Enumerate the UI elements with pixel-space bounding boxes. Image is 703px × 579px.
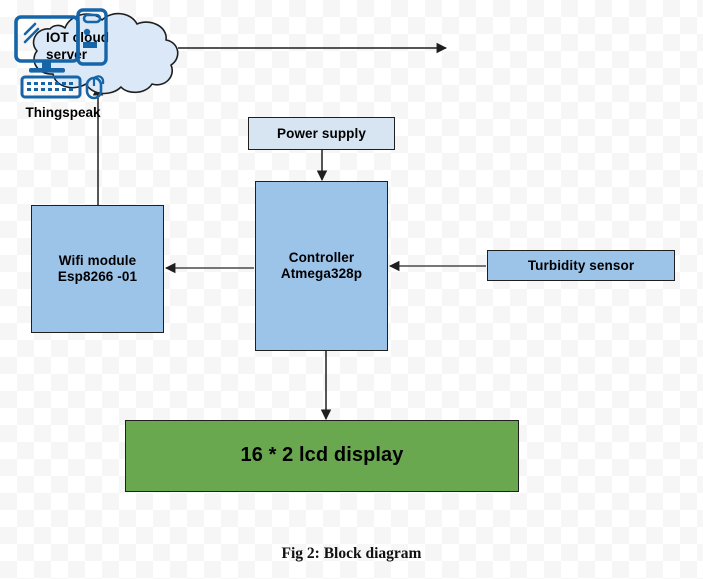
node-label-thingspeak: Thingspeak xyxy=(0,105,126,120)
node-label-turbidity-sensor: Turbidity sensor xyxy=(528,258,634,274)
figure-caption: Fig 2: Block diagram xyxy=(0,545,703,563)
node-thingspeak[interactable]: Thingspeak xyxy=(0,0,126,122)
node-lcd-display[interactable]: 16 * 2 lcd display xyxy=(125,420,519,492)
node-label-lcd-display: 16 * 2 lcd display xyxy=(241,444,404,468)
node-controller[interactable]: Controller Atmega328p xyxy=(255,181,388,351)
node-label-controller: Controller Atmega328p xyxy=(281,250,362,282)
node-turbidity-sensor[interactable]: Turbidity sensor xyxy=(487,250,675,281)
node-wifi-module[interactable]: Wifi module Esp8266 -01 xyxy=(31,205,164,333)
node-label-wifi-module: Wifi module Esp8266 -01 xyxy=(58,253,137,285)
node-power-supply[interactable]: Power supply xyxy=(248,117,395,150)
node-label-power-supply: Power supply xyxy=(277,126,366,142)
desktop-computer-icon xyxy=(8,4,118,104)
block-diagram-canvas: IOT cloud server xyxy=(0,0,703,579)
